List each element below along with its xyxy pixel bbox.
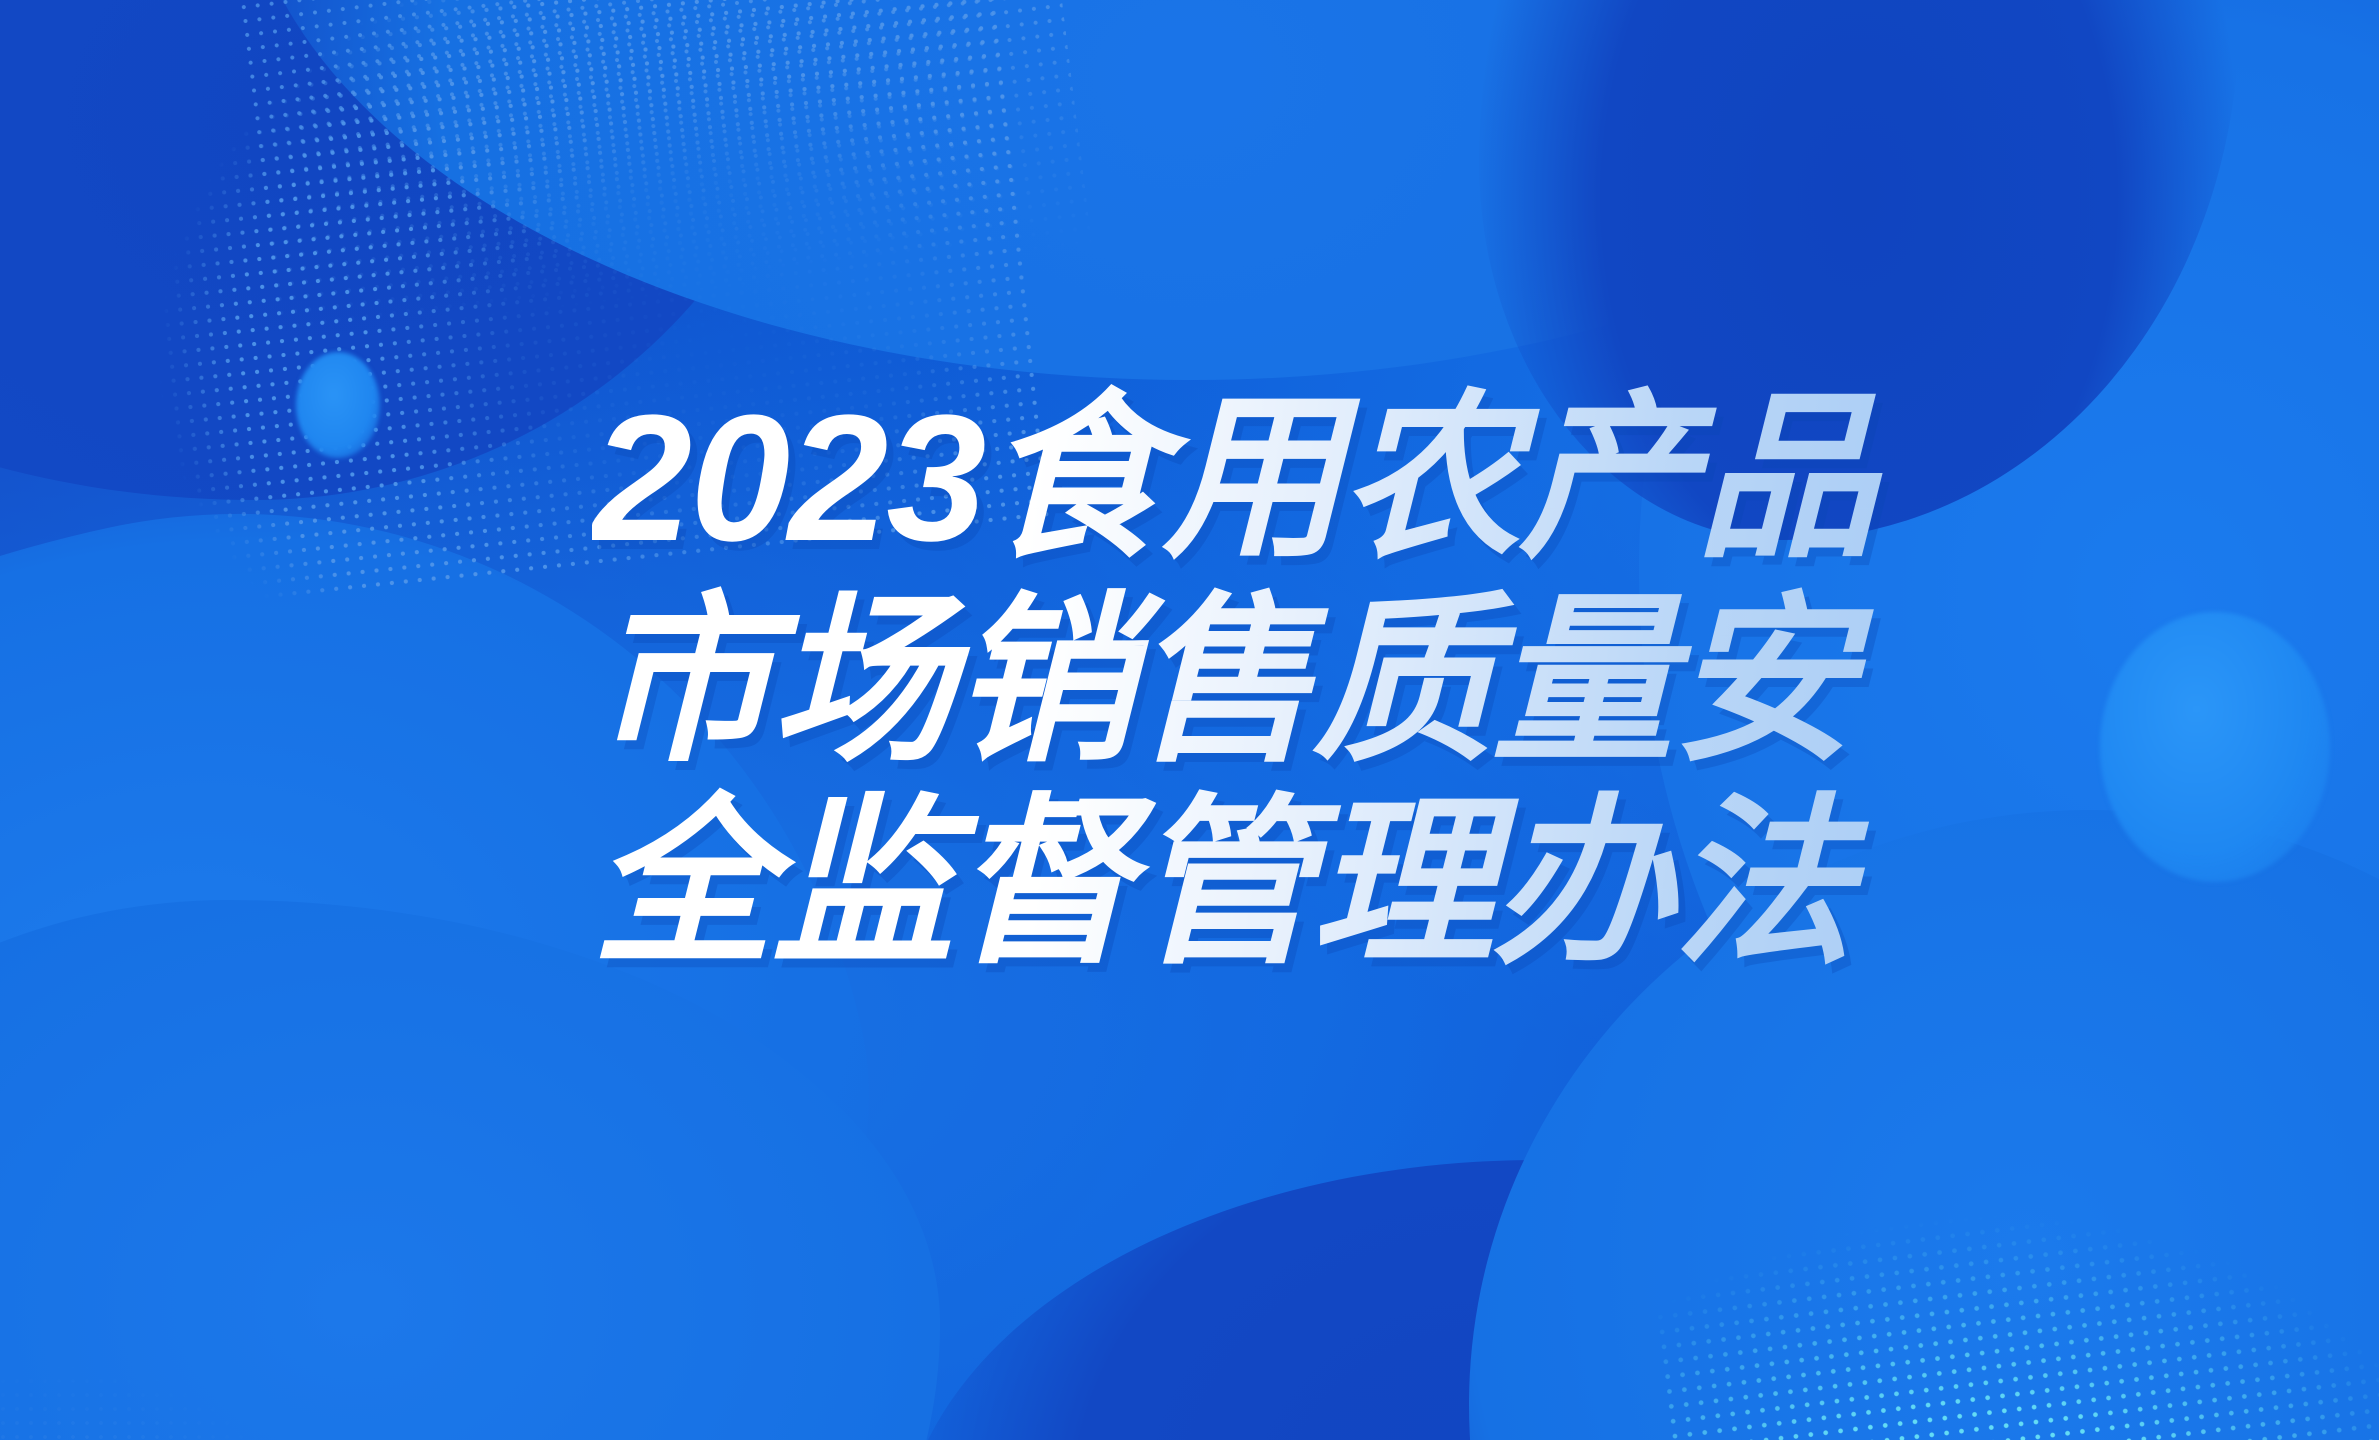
poster-title-line-1: 2023食用农产品 bbox=[592, 378, 1912, 580]
poster-title: 2023食用农产品 市场销售质量安 全监督管理办法 bbox=[592, 378, 1912, 984]
poster-title-line-3: 全监督管理办法 bbox=[592, 782, 1912, 984]
poster-title-line-2: 市场销售质量安 bbox=[592, 580, 1912, 782]
poster-canvas: 2023食用农产品 市场销售质量安 全监督管理办法 bbox=[0, 0, 2379, 1440]
